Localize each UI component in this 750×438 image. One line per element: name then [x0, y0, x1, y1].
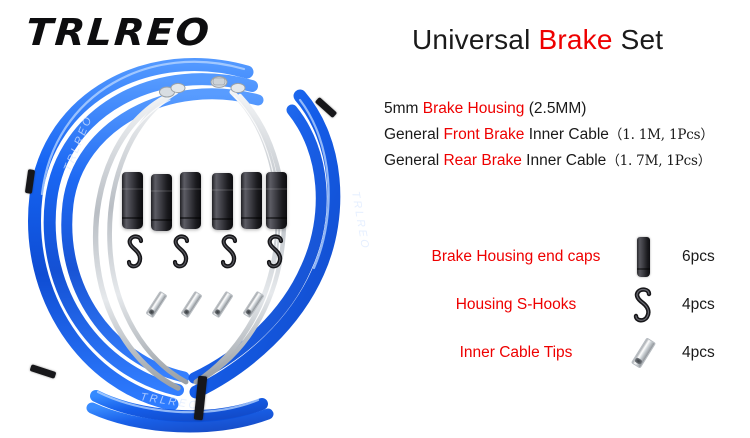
spec-after: Inner Cable — [524, 126, 608, 143]
spec-row-front-cable: General Front Brake Inner Cable（1. 1M, 1… — [384, 122, 714, 148]
parts-legend: Brake Housing end caps 6pcs Housing S-Ho… — [418, 233, 738, 377]
end-cap-part — [241, 172, 262, 229]
spec-row-rear-cable: General Rear Brake Inner Cable（1. 7M, 1P… — [384, 148, 714, 174]
legend-quantity: 6pcs — [682, 248, 715, 266]
spec-after: (2.5MM) — [524, 100, 586, 117]
s-hooks-group — [124, 232, 304, 278]
product-photo: TRLREO TRLREO TRLREO — [0, 0, 378, 438]
title-suffix: Set — [613, 24, 664, 55]
spec-paren: （1. 1M, 1Pcs） — [609, 127, 714, 143]
legend-quantity: 4pcs — [682, 296, 715, 314]
end-cap-part — [266, 172, 287, 229]
inner-cable-tip-icon — [614, 329, 672, 377]
svg-text:TRLREO: TRLREO — [349, 190, 371, 251]
end-cap-part — [212, 173, 233, 230]
title-prefix: Universal — [412, 24, 538, 55]
spec-after: Inner Cable — [522, 152, 606, 169]
spec-before: 5mm — [384, 100, 423, 117]
spec-highlight: Front Brake — [443, 126, 524, 143]
end-cap-part — [122, 172, 143, 229]
spec-highlight: Rear Brake — [443, 152, 521, 169]
end-cap-part — [151, 174, 172, 231]
title-highlight: Brake — [538, 24, 612, 55]
page-title: Universal Brake Set — [412, 24, 663, 56]
legend-quantity: 4pcs — [682, 344, 715, 362]
specification-list: 5mm Brake Housing (2.5MM) General Front … — [384, 96, 714, 174]
product-image-canvas: TRLREO Universal Brake Set 5mm Brake Hou… — [0, 0, 750, 438]
s-hook-icon — [614, 281, 672, 329]
legend-row-s-hooks: Housing S-Hooks 4pcs — [418, 281, 738, 329]
legend-row-cable-tips: Inner Cable Tips 4pcs — [418, 329, 738, 377]
housing-end-cap-icon — [614, 233, 672, 281]
legend-row-end-caps: Brake Housing end caps 6pcs — [418, 233, 738, 281]
spec-paren: （1. 7M, 1Pcs） — [606, 153, 711, 169]
spec-row-housing: 5mm Brake Housing (2.5MM) — [384, 96, 714, 122]
end-cap-part — [180, 172, 201, 229]
legend-label: Inner Cable Tips — [418, 344, 614, 362]
spec-before: General — [384, 126, 443, 143]
spec-highlight: Brake Housing — [423, 100, 525, 117]
legend-label: Housing S-Hooks — [418, 296, 614, 314]
spec-before: General — [384, 152, 443, 169]
legend-label: Brake Housing end caps — [418, 248, 614, 266]
